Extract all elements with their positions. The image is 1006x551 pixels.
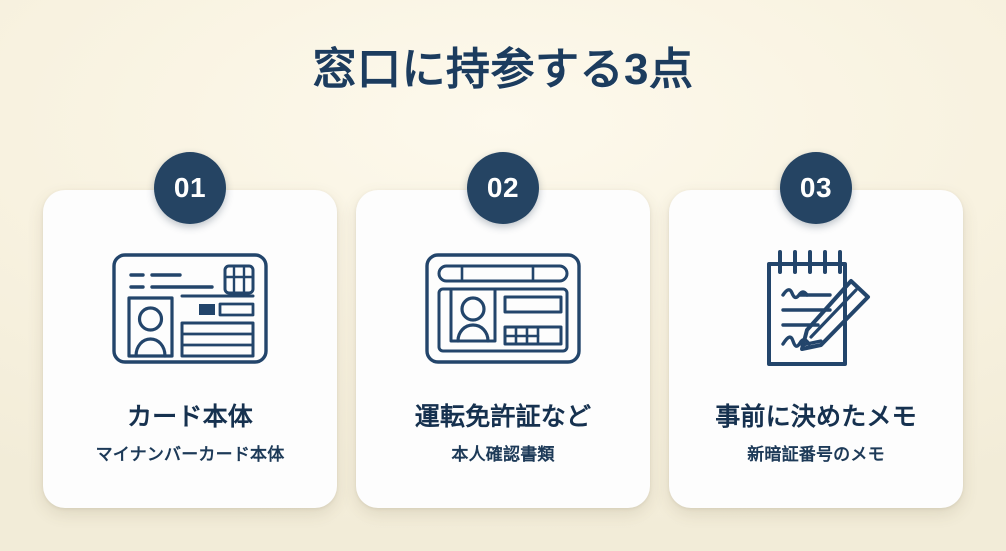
slide-canvas: 窓口に持参する3点 01 (0, 0, 1006, 551)
step-badge-3: 03 (780, 152, 852, 224)
card-title-2: 運転免許証など (356, 397, 650, 433)
card-subtitle-2: 本人確認書類 (356, 440, 650, 465)
drivers-license-icon (356, 238, 650, 378)
page-title: 窓口に持参する3点 (0, 46, 1006, 94)
card-title-3: 事前に決めたメモ (669, 397, 963, 433)
card-item-3[interactable]: 03 事前に決め (669, 190, 963, 508)
card-item-1[interactable]: 01 (43, 190, 337, 508)
step-badge-2: 02 (467, 152, 539, 224)
notepad-pencil-icon (669, 238, 963, 378)
card-item-2[interactable]: 02 運転免許証 (356, 190, 650, 508)
card-subtitle-3: 新暗証番号のメモ (669, 440, 963, 465)
step-badge-1: 01 (154, 152, 226, 224)
card-list: 01 (43, 190, 963, 508)
card-title-1: カード本体 (43, 397, 337, 433)
card-subtitle-1: マイナンバーカード本体 (43, 440, 337, 465)
id-card-icon (43, 238, 337, 378)
